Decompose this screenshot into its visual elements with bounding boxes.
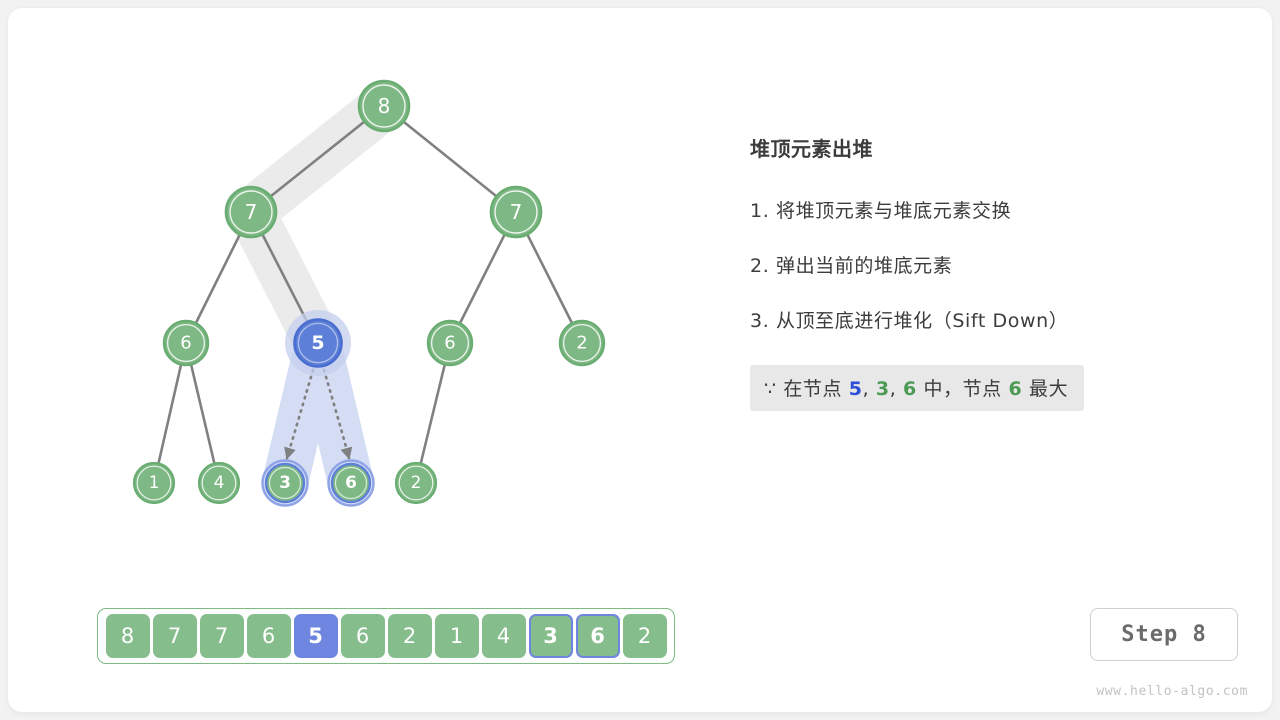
array-cell[interactable]: 7 [200,614,244,658]
tree-node-label: 2 [576,333,587,354]
tree-edges [154,106,582,483]
array-cell[interactable]: 7 [153,614,197,658]
step-item-3: 3. 从顶至底进行堆化（Sift Down） [750,306,1220,333]
array-cell[interactable]: 2 [388,614,432,658]
explanation-panel: 堆顶元素出堆 1. 将堆顶元素与堆底元素交换 2. 弹出当前的堆底元素 3. 从… [750,138,1220,411]
tree-node-n11[interactable]: 2 [396,463,436,503]
conclusion-suffix: 最大 [1022,378,1068,400]
array-cell[interactable]: 8 [106,614,150,658]
conclusion-prefix: ∵ 在节点 [764,378,849,400]
tree-node-n7[interactable]: 1 [134,463,174,503]
tree-node-label: 3 [279,473,291,493]
conclusion-sep-2: , [890,378,903,400]
step-badge: Step 8 [1090,608,1238,661]
step-item-2: 2. 弹出当前的堆底元素 [750,251,1220,278]
tree-node-label: 2 [411,473,422,493]
tree-node-label: 6 [345,473,357,493]
tree-node-n2[interactable]: 7 [491,187,541,237]
conclusion-node-1: 5 [849,378,863,400]
step-item-1: 1. 将堆顶元素与堆底元素交换 [750,196,1220,223]
array-cell[interactable]: 5 [294,614,338,658]
array-cell[interactable]: 1 [435,614,479,658]
conclusion-node-2: 3 [876,378,890,400]
tree-node-n0[interactable]: 8 [359,81,409,131]
tree-node-n1[interactable]: 7 [226,187,276,237]
tree-node-label: 1 [149,473,160,493]
tree-node-n9[interactable]: 3 [263,461,308,506]
array-cell[interactable]: 3 [529,614,573,658]
tree-node-n10[interactable]: 6 [329,461,374,506]
tree-node-label: 4 [214,473,225,493]
tree-node-label: 7 [245,200,258,224]
conclusion-sep-1: , [863,378,876,400]
content-card: 8 7 7 6 [8,8,1272,712]
page-title: 堆顶元素出堆 [750,138,1220,162]
tree-node-label: 5 [311,332,324,354]
array-cell[interactable]: 6 [576,614,620,658]
conclusion-callout: ∵ 在节点 5, 3, 6 中，节点 6 最大 [750,365,1084,411]
array-cell[interactable]: 4 [482,614,526,658]
array-cell[interactable]: 6 [341,614,385,658]
tree-node-n4[interactable]: 5 [295,320,342,367]
screenshot-root: 8 7 7 6 [0,0,1280,720]
conclusion-node-3: 6 [903,378,917,400]
tree-node-label: 7 [510,200,523,224]
array-cell[interactable]: 6 [247,614,291,658]
tree-node-n6[interactable]: 2 [560,321,604,365]
tree-node-label: 8 [378,94,391,118]
array-cell[interactable]: 2 [623,614,667,658]
conclusion-middle: 中，节点 [917,378,1009,400]
tree-node-n3[interactable]: 6 [164,321,208,365]
tree-node-n5[interactable]: 6 [428,321,472,365]
watermark: www.hello-algo.com [1096,684,1248,699]
binary-tree-diagram: 8 7 7 6 [8,8,708,568]
conclusion-node-max: 6 [1009,378,1023,400]
tree-node-label: 6 [444,333,455,354]
tree-node-label: 6 [180,333,191,354]
heap-array: 877656214362 [97,608,675,664]
tree-node-n8[interactable]: 4 [199,463,239,503]
